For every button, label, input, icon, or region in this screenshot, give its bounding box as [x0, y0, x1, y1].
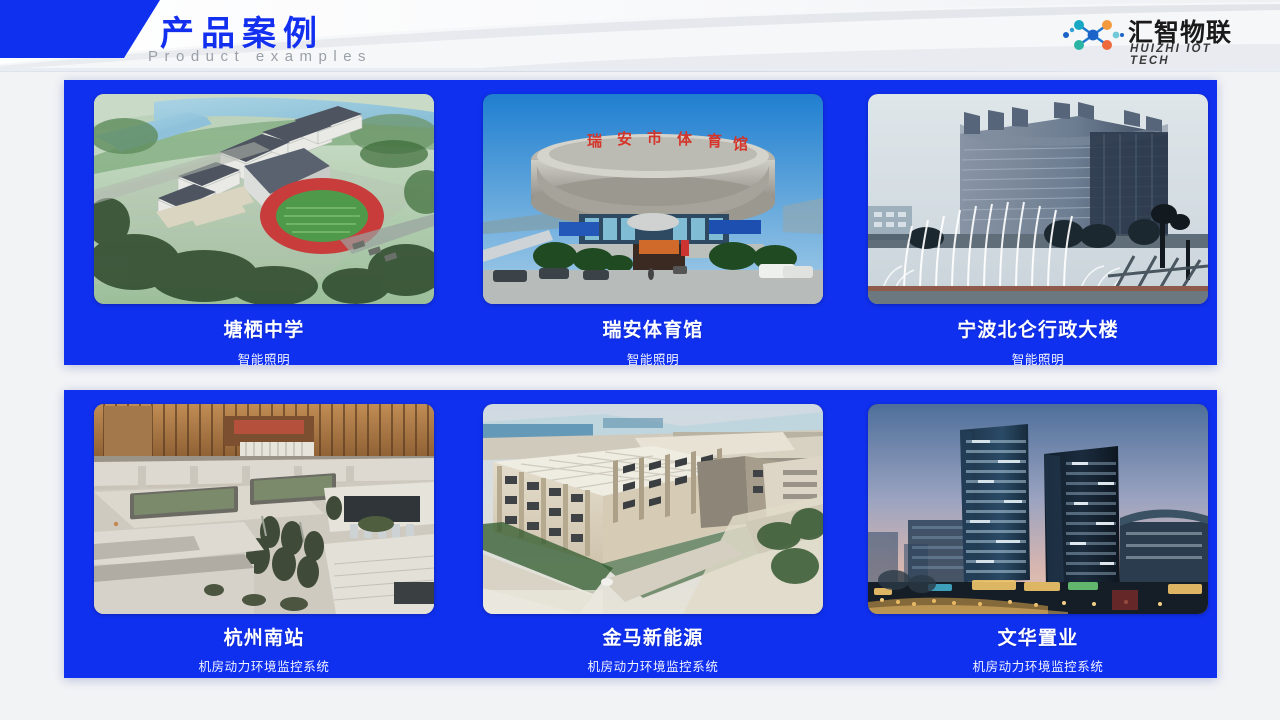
- card-subtitle: 机房动力环境监控系统: [94, 656, 434, 675]
- svg-text:体: 体: [677, 130, 693, 148]
- page-header: 产品案例 Product examples 汇智物联 HUIZHI IOT TE…: [0, 0, 1280, 72]
- svg-text:馆: 馆: [733, 135, 748, 153]
- brand-logo: 汇智物联 HUIZHI IOT TECH: [1062, 14, 1252, 60]
- card-title: 文华置业: [868, 623, 1208, 650]
- product-panel-row-1: 塘栖中学 智能照明: [64, 80, 1217, 365]
- molecule-network-logo-icon: [1062, 16, 1124, 54]
- card-subtitle: 智能照明: [868, 349, 1208, 368]
- product-card[interactable]: 塘栖中学 智能照明: [94, 94, 434, 368]
- industrial-factory-complex-aerial-image[interactable]: [483, 404, 823, 614]
- product-panel-row-2: 杭州南站 机房动力环境监控系统: [64, 390, 1217, 678]
- product-card[interactable]: 杭州南站 机房动力环境监控系统: [94, 404, 434, 675]
- card-title: 宁波北仑行政大楼: [868, 315, 1208, 342]
- government-office-building-fountain-image[interactable]: [868, 94, 1208, 304]
- svg-text:安: 安: [617, 130, 632, 148]
- card-title: 金马新能源: [483, 623, 823, 650]
- product-card[interactable]: 文华置业 机房动力环境监控系统: [868, 404, 1208, 675]
- product-card[interactable]: 瑞安 市体 育馆: [483, 94, 823, 368]
- product-card[interactable]: 金马新能源 机房动力环境监控系统: [483, 404, 823, 675]
- svg-text:育: 育: [707, 132, 722, 150]
- school-campus-aerial-rendering-image[interactable]: [94, 94, 434, 304]
- svg-text:市: 市: [647, 129, 662, 147]
- card-subtitle: 智能照明: [483, 349, 823, 368]
- card-title: 塘栖中学: [94, 315, 434, 342]
- twin-towers-city-dusk-image[interactable]: [868, 404, 1208, 614]
- svg-text:瑞: 瑞: [587, 132, 602, 150]
- railway-station-plaza-aerial-image[interactable]: [94, 404, 434, 614]
- card-subtitle: 机房动力环境监控系统: [483, 656, 823, 675]
- header-divider: [0, 71, 1280, 72]
- page-subtitle: Product examples: [148, 48, 372, 65]
- card-title: 瑞安体育馆: [483, 315, 823, 342]
- card-subtitle: 机房动力环境监控系统: [868, 656, 1208, 675]
- product-card[interactable]: 宁波北仑行政大楼 智能照明: [868, 94, 1208, 368]
- logo-english-name: HUIZHI IOT TECH: [1130, 43, 1252, 67]
- card-title: 杭州南站: [94, 623, 434, 650]
- card-subtitle: 智能照明: [94, 349, 434, 368]
- round-stadium-arena-exterior-image[interactable]: 瑞安 市体 育馆: [483, 94, 823, 304]
